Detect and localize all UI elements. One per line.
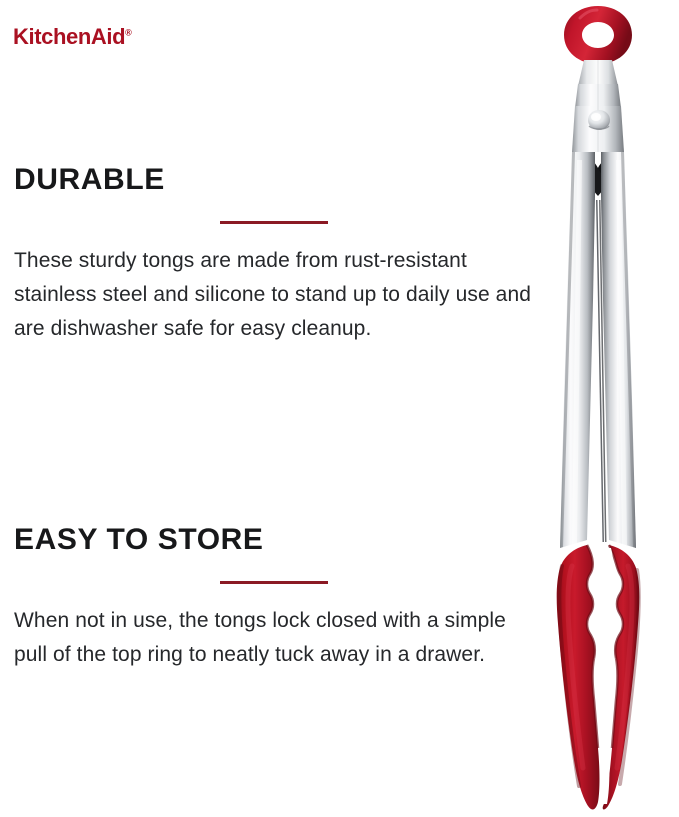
feature-block-durable: DURABLE These sturdy tongs are made from…	[14, 163, 534, 346]
left-arm	[560, 152, 595, 548]
brand-name: KitchenAid	[13, 24, 125, 49]
heading-divider-durable	[220, 221, 328, 224]
lock-head	[572, 60, 624, 152]
feature-body-easy-to-store: When not in use, the tongs lock closed w…	[14, 604, 534, 672]
heading-divider-easy-to-store	[220, 581, 328, 584]
left-silicone-tip	[557, 545, 600, 809]
product-image-tongs	[520, 0, 679, 817]
rivet	[588, 110, 610, 130]
feature-heading-durable: DURABLE	[14, 163, 534, 197]
feature-heading-easy-to-store: EASY TO STORE	[14, 523, 534, 557]
right-arm	[601, 152, 636, 548]
feature-body-durable: These sturdy tongs are made from rust-re…	[14, 244, 534, 346]
feature-block-easy-to-store: EASY TO STORE When not in use, the tongs…	[14, 523, 534, 672]
pull-ring	[564, 6, 632, 64]
registered-trademark-icon: ®	[125, 28, 132, 38]
kitchenaid-logo: KitchenAid®	[13, 26, 132, 48]
